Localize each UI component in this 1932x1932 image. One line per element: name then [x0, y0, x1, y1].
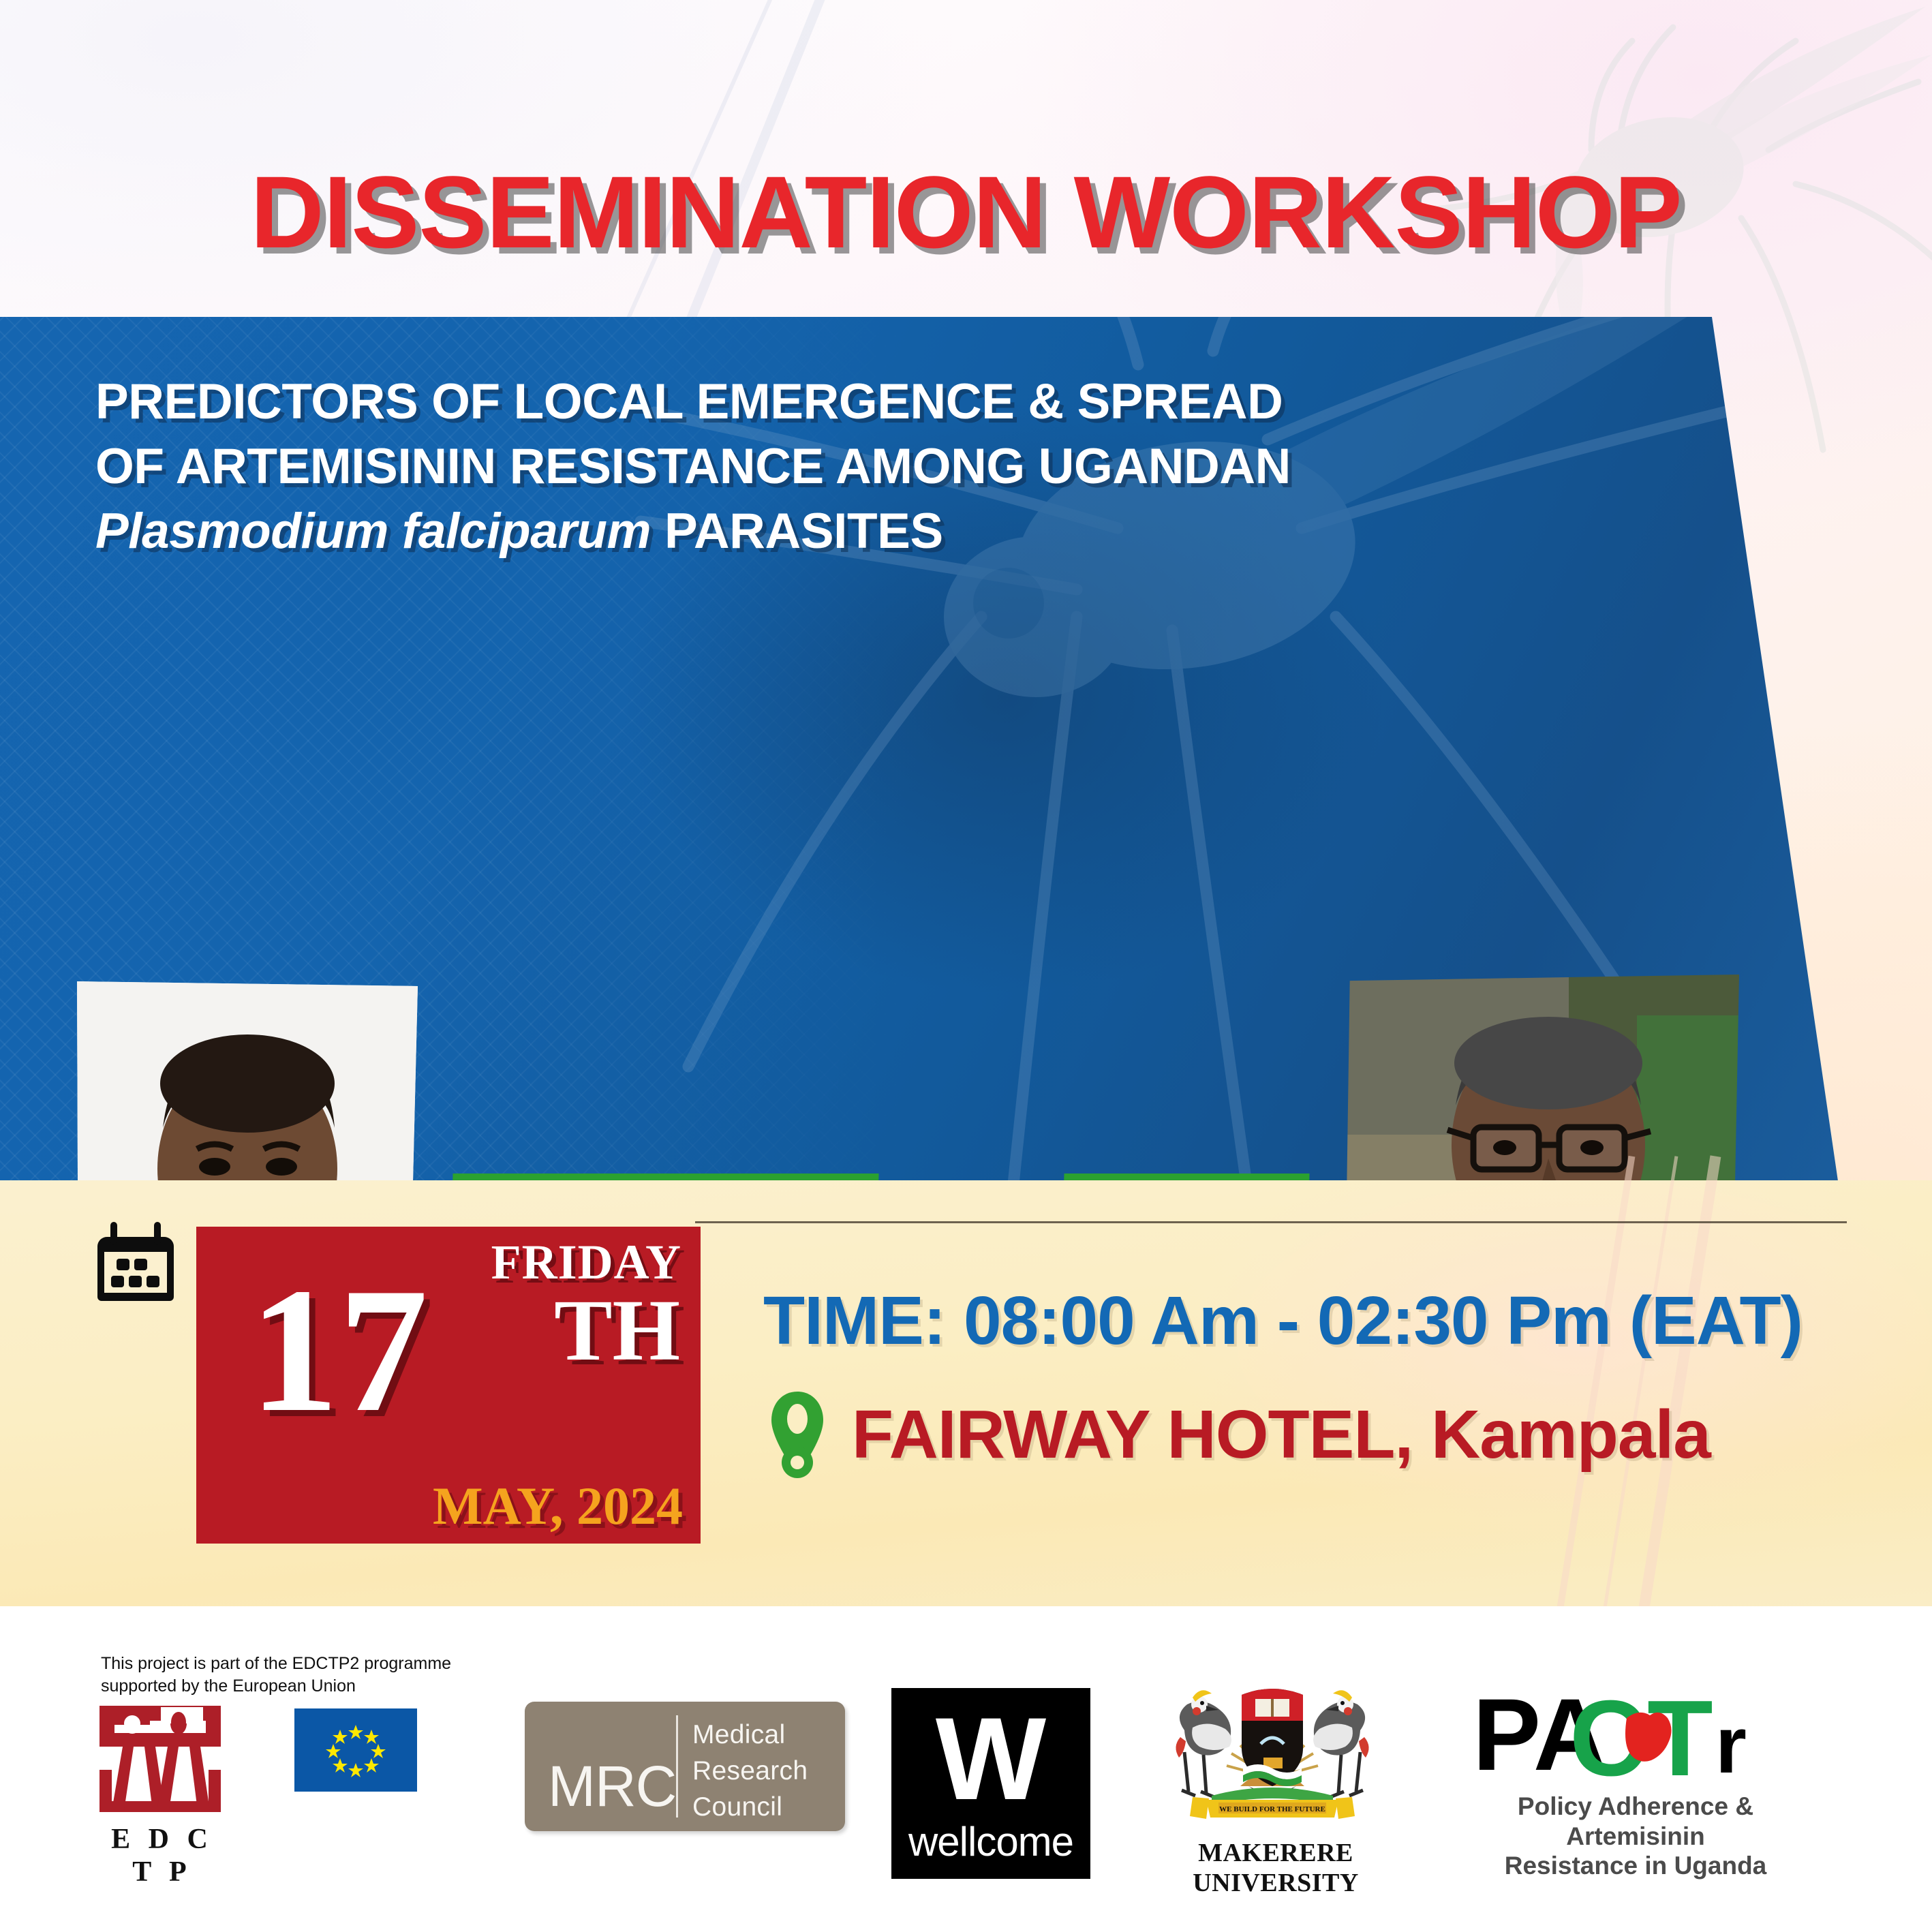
event-date-block: FRIDAY 17 TH MAY, 2024 — [196, 1227, 701, 1544]
subtitle-line-3: Plasmodium falciparum PARASITES — [95, 500, 1291, 564]
wellcome-monogram: W — [891, 1700, 1090, 1818]
european-union-flag-icon — [294, 1708, 417, 1792]
event-poster: DISSEMINATION WORKSHOP — [0, 0, 1932, 1932]
subtitle-line-2: OF ARTEMISININ RESISTANCE AMONG UGANDAN — [95, 435, 1291, 500]
day-number: 17 — [249, 1261, 428, 1439]
wellcome-logo: W wellcome — [891, 1688, 1090, 1879]
pactr-logo: PA CT r Policy Adherence & Artemisinin R… — [1475, 1689, 1796, 1846]
mrc-divider — [676, 1715, 678, 1818]
day-of-week: FRIDAY — [491, 1238, 681, 1287]
mrc-logo: MRC Medical Research Council — [525, 1702, 845, 1831]
page-title: DISSEMINATION WORKSHOP — [0, 161, 1932, 263]
calendar-icon — [91, 1222, 181, 1306]
mrc-abbreviation: MRC — [548, 1758, 676, 1815]
avatar-speaker — [1344, 975, 1739, 1182]
makerere-university-crest-icon: WE BUILD FOR THE FUTURE — [1167, 1683, 1378, 1827]
event-venue: FAIRWAY HOTEL, Kampala — [852, 1400, 1711, 1469]
event-time: TIME: 08:00 Am - 02:30 Pm (EAT) — [763, 1287, 1803, 1355]
subtitle-line-1: PREDICTORS OF LOCAL EMERGENCE & SPREAD — [95, 370, 1291, 435]
edctp-logo-icon — [95, 1702, 225, 1818]
makerere-motto: WE BUILD FOR THE FUTURE — [1219, 1805, 1325, 1813]
title-panel: PREDICTORS OF LOCAL EMERGENCE & SPREAD O… — [0, 317, 1932, 1182]
sponsor-footer: This project is part of the EDCTP2 progr… — [0, 1606, 1932, 1932]
edctp-wordmark: E D C T P — [94, 1823, 230, 1888]
mrc-full-name: Medical Research Council — [692, 1717, 808, 1825]
workshop-subtitle: PREDICTORS OF LOCAL EMERGENCE & SPREAD O… — [95, 370, 1291, 564]
pactr-wordmark-icon: PA CT r — [1475, 1689, 1796, 1785]
month-year: MAY, 2024 — [433, 1479, 683, 1533]
pactr-r: r — [1715, 1700, 1747, 1785]
map-pin-icon — [763, 1389, 831, 1479]
day-suffix: TH — [554, 1287, 680, 1374]
avatar-lead-presenter — [77, 981, 418, 1182]
divider — [695, 1221, 1847, 1223]
subtitle-line-3-rest: PARASITES — [651, 504, 943, 559]
edctp-funding-note: This project is part of the EDCTP2 progr… — [101, 1653, 451, 1698]
wellcome-wordmark: wellcome — [891, 1822, 1090, 1862]
makerere-university-name: MAKERERE UNIVERSITY — [1139, 1838, 1412, 1898]
pactr-subtitle: Policy Adherence & Artemisinin Resistanc… — [1469, 1792, 1803, 1881]
species-name: Plasmodium falciparum — [95, 504, 651, 559]
